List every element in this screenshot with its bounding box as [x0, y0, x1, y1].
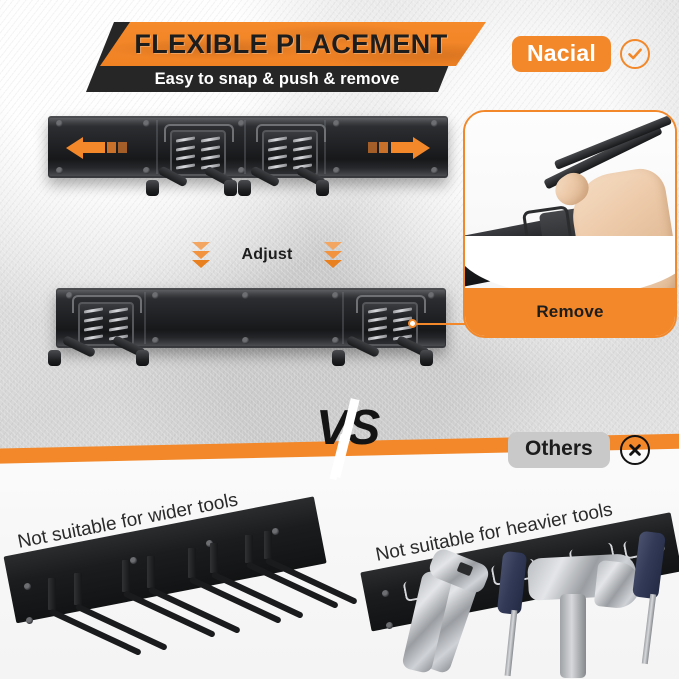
screw-icon	[143, 167, 150, 174]
others-badge: Others	[508, 432, 650, 468]
screw-icon	[428, 292, 435, 299]
others-label: Others	[508, 432, 610, 468]
screw-icon	[431, 167, 438, 174]
hook-tip	[332, 350, 345, 366]
rail-seam	[156, 120, 158, 174]
hook-tip	[238, 180, 251, 196]
hook-tip	[316, 180, 329, 196]
screw-icon	[332, 292, 339, 299]
screw-icon	[242, 292, 249, 299]
hook-tip	[136, 350, 149, 366]
hook-tip	[420, 350, 433, 366]
hook-tip	[146, 180, 159, 196]
rack-prong	[122, 560, 130, 592]
header-banner: FLEXIBLE PLACEMENT Easy to snap & push &…	[86, 22, 466, 92]
tool-rail-spread	[56, 288, 446, 348]
brand-name: Nacial	[512, 36, 611, 72]
check-circle-icon	[620, 39, 650, 69]
page-subtitle: Easy to snap & push & remove	[112, 66, 442, 92]
sliding-hook-unit[interactable]	[170, 130, 226, 176]
screw-icon	[333, 167, 340, 174]
remove-callout-panel: Remove	[463, 110, 677, 338]
tool-rail-adjustable	[48, 116, 448, 178]
screw-icon	[242, 337, 249, 344]
hook-tip	[224, 180, 237, 196]
rack-prong	[245, 535, 253, 563]
sliding-hook-unit[interactable]	[78, 302, 134, 346]
screw-icon	[152, 337, 159, 344]
callout-connector-dot	[408, 319, 417, 328]
rail-top-edge	[49, 118, 447, 127]
adjust-indicator: Adjust	[192, 238, 342, 272]
screw-icon	[333, 120, 340, 127]
screw-icon	[332, 337, 339, 344]
callout-hook-arm	[554, 115, 672, 170]
sliding-hook-unit[interactable]	[262, 130, 318, 176]
rack-prong	[48, 578, 56, 610]
x-circle-icon	[620, 435, 650, 465]
rail-seam	[342, 292, 344, 344]
remove-label: Remove	[536, 302, 603, 322]
infographic-page: FLEXIBLE PLACEMENT Easy to snap & push &…	[0, 0, 679, 679]
page-title: FLEXIBLE PLACEMENT	[126, 24, 456, 64]
rack-prong	[74, 573, 82, 605]
adjust-label: Adjust	[242, 246, 293, 264]
brand-badge: Nacial	[512, 36, 650, 72]
rack-prong	[188, 548, 196, 578]
rail-seam	[244, 120, 246, 174]
hook-tip	[48, 350, 61, 366]
rack-prong	[210, 543, 218, 573]
chevron-down-triple-icon	[324, 242, 342, 268]
hammer-handle	[560, 594, 586, 678]
chevron-down-triple-icon	[192, 242, 210, 268]
rail-seam	[144, 292, 146, 344]
rack-prong	[264, 531, 272, 559]
callout-connector-line	[414, 323, 466, 325]
versus-indicator: VS	[316, 404, 386, 470]
screw-icon	[143, 120, 150, 127]
rail-bottom-edge	[49, 168, 447, 176]
screw-icon	[56, 167, 63, 174]
screw-icon	[56, 120, 63, 127]
rack-prong	[147, 556, 155, 588]
screw-icon	[152, 292, 159, 299]
screw-icon	[431, 120, 438, 127]
callout-label-bar: Remove	[465, 288, 675, 336]
